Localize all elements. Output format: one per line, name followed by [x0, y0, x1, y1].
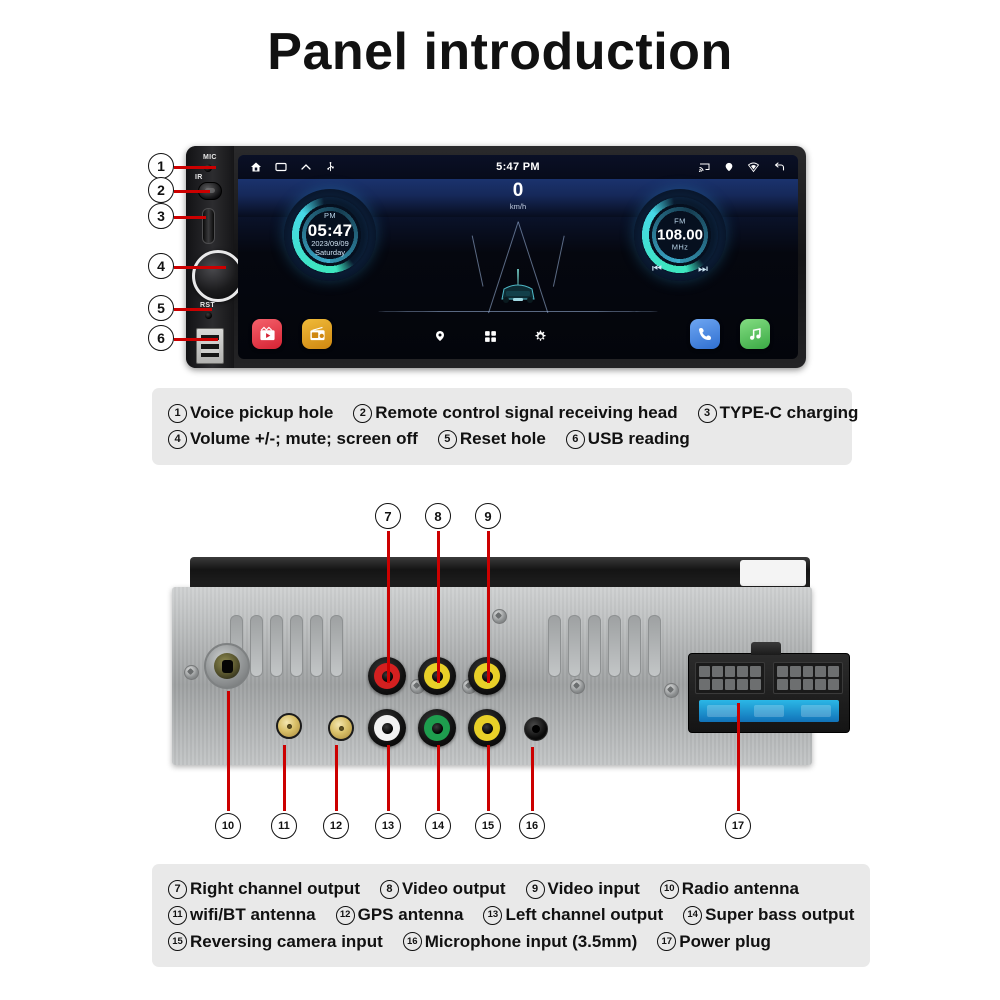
callout-1: 1 — [148, 153, 174, 179]
legend-item-1: 1 Voice pickup hole — [168, 400, 333, 426]
callout-9: 9 — [475, 503, 501, 529]
rca-pin — [432, 723, 443, 734]
legend-text: Left channel output — [505, 902, 663, 928]
callout-10: 10 — [215, 813, 241, 839]
legend-num: 6 — [566, 430, 585, 449]
vent-slot — [290, 615, 303, 677]
vent-slot — [608, 615, 621, 677]
legend-num: 5 — [438, 430, 457, 449]
legend-item-5: 5 Reset hole — [438, 426, 546, 452]
radio-unit: MHz — [651, 244, 709, 253]
legend-item-8: 8 Video output — [380, 876, 506, 902]
leader-line-11 — [283, 745, 286, 811]
legend-item-4: 4 Volume +/-; mute; screen off — [168, 426, 418, 452]
legend-text: Video output — [402, 876, 506, 902]
usb-port[interactable] — [196, 328, 224, 364]
radio-band: FM — [651, 218, 709, 227]
recents-icon[interactable] — [275, 161, 287, 173]
callout-13: 13 — [375, 813, 401, 839]
callout-6: 6 — [148, 325, 174, 351]
video-app-icon[interactable] — [252, 319, 282, 349]
ir-label: IR — [195, 174, 203, 181]
home-icon[interactable] — [250, 161, 262, 173]
type-c-port[interactable] — [202, 208, 215, 244]
power-pin-block-right — [773, 662, 843, 694]
legend-text: TYPE-C charging — [720, 400, 859, 426]
clock-time: 05:47 — [301, 221, 359, 241]
callout-7: 7 — [375, 503, 401, 529]
radio-prev-button[interactable]: ⏮ — [652, 263, 662, 276]
cast-icon[interactable] — [698, 161, 711, 173]
rca-pin — [482, 723, 493, 734]
vent-slot — [548, 615, 561, 677]
legend-text: GPS antenna — [358, 902, 464, 928]
vent-slot — [568, 615, 581, 677]
apps-grid-icon[interactable] — [484, 330, 497, 343]
legend-rear-panel: 7 Right channel output 8 Video output 9 … — [152, 864, 870, 967]
speed-value: 0 — [510, 181, 526, 200]
status-right-icons — [698, 161, 786, 173]
callout-8: 8 — [425, 503, 451, 529]
legend-item-7: 7 Right channel output — [168, 876, 360, 902]
leader-line-5 — [174, 308, 212, 311]
legend-text: Super bass output — [705, 902, 854, 928]
speed-unit: km/h — [510, 202, 526, 211]
wifi-bt-antenna-socket[interactable] — [276, 713, 302, 739]
leader-line-8 — [437, 531, 440, 683]
microphone-input-jack[interactable] — [524, 717, 548, 741]
legend-front-panel: 1 Voice pickup hole 2 Remote control sig… — [152, 388, 852, 465]
leader-line-10 — [227, 691, 230, 811]
settings-gear-icon[interactable] — [534, 330, 547, 343]
radio-antenna-socket[interactable] — [204, 643, 250, 689]
legend-num: 2 — [353, 404, 372, 423]
legend-text: Reset hole — [460, 426, 546, 452]
vent-slot — [330, 615, 343, 677]
legend-item-6: 6 USB reading — [566, 426, 690, 452]
power-plug-latch — [751, 642, 781, 655]
vent-slot — [588, 615, 601, 677]
legend-num: 3 — [698, 404, 717, 423]
callout-2: 2 — [148, 177, 174, 203]
rca-reversing-camera-input[interactable] — [468, 709, 506, 747]
callout-4: 4 — [148, 253, 174, 279]
legend-num: 14 — [683, 906, 702, 925]
legend-row: 11 wifi/BT antenna 12 GPS antenna 13 Lef… — [168, 902, 854, 928]
chevron-up-icon[interactable] — [300, 161, 312, 173]
legend-item-15: 15 Reversing camera input — [168, 929, 383, 955]
radio-app-icon[interactable] — [302, 319, 332, 349]
legend-item-13: 13 Left channel output — [483, 902, 663, 928]
vent-slot — [310, 615, 323, 677]
legend-num: 4 — [168, 430, 187, 449]
touchscreen-display[interactable]: 5:47 PM 0 — [238, 155, 798, 359]
location-icon[interactable] — [724, 161, 734, 173]
leader-line-16 — [531, 747, 534, 811]
chassis-screw — [664, 683, 679, 698]
reset-hole[interactable] — [205, 312, 212, 319]
legend-num: 1 — [168, 404, 187, 423]
legend-row: 4 Volume +/-; mute; screen off 5 Reset h… — [168, 426, 836, 452]
legend-num: 16 — [403, 932, 422, 951]
phone-app-icon[interactable] — [690, 319, 720, 349]
app-dock — [238, 313, 798, 353]
rca-super-bass-output[interactable] — [418, 709, 456, 747]
radio-next-button[interactable]: ⏭ — [698, 263, 708, 276]
leader-line-6 — [174, 338, 218, 341]
leader-line-2 — [174, 190, 210, 193]
gps-antenna-socket[interactable] — [328, 715, 354, 741]
legend-num: 8 — [380, 880, 399, 899]
legend-row: 7 Right channel output 8 Video output 9 … — [168, 876, 854, 902]
callout-11: 11 — [271, 813, 297, 839]
volume-knob[interactable] — [192, 250, 244, 302]
legend-text: Radio antenna — [682, 876, 799, 902]
legend-row: 1 Voice pickup hole 2 Remote control sig… — [168, 400, 836, 426]
music-app-icon[interactable] — [740, 319, 770, 349]
radio-frequency: 108.00 — [651, 226, 709, 243]
callout-15: 15 — [475, 813, 501, 839]
leader-line-12 — [335, 745, 338, 811]
legend-num: 11 — [168, 906, 187, 925]
leader-line-17 — [737, 703, 740, 811]
vent-slot — [628, 615, 641, 677]
chassis-screw — [184, 665, 199, 680]
legend-row: 15 Reversing camera input 16 Microphone … — [168, 929, 854, 955]
legend-num: 15 — [168, 932, 187, 951]
chassis-screw — [492, 609, 507, 624]
leader-line-4 — [174, 266, 226, 269]
legend-item-14: 14 Super bass output — [683, 902, 854, 928]
clock-readout: PM 05:47 2023/09/09 Saturday — [301, 212, 359, 258]
leader-line-13 — [387, 745, 390, 811]
page-title: Panel introduction — [0, 22, 1000, 82]
leader-line-1 — [174, 166, 216, 169]
front-panel-view: 1 2 3 4 5 6 MIC IR RST — [0, 140, 1000, 390]
legend-num: 17 — [657, 932, 676, 951]
left-side-port-column: MIC IR RST — [186, 146, 234, 368]
mic-label: MIC — [203, 154, 217, 161]
leader-line-15 — [487, 745, 490, 811]
wifi-icon[interactable] — [747, 161, 760, 173]
mounting-bracket — [190, 557, 810, 589]
rca-band — [374, 715, 400, 741]
legend-num: 13 — [483, 906, 502, 925]
legend-item-3: 3 TYPE-C charging — [698, 400, 859, 426]
legend-item-17: 17 Power plug — [657, 929, 771, 955]
car-icon — [494, 267, 542, 305]
clock-weekday: Saturday — [301, 249, 359, 258]
legend-text: wifi/BT antenna — [190, 902, 316, 928]
legend-text: Video input — [548, 876, 640, 902]
navigation-icon[interactable] — [434, 329, 446, 343]
vent-slot — [250, 615, 263, 677]
status-left-icons — [250, 161, 336, 173]
callout-12: 12 — [323, 813, 349, 839]
legend-text: Voice pickup hole — [190, 400, 333, 426]
vent-slot — [648, 615, 661, 677]
rca-band — [424, 715, 450, 741]
power-pin-block-left — [695, 662, 765, 694]
legend-text: Volume +/-; mute; screen off — [190, 426, 418, 452]
legend-text: Power plug — [679, 929, 771, 955]
legend-item-11: 11 wifi/BT antenna — [168, 902, 316, 928]
legend-num: 9 — [526, 880, 545, 899]
leader-line-3 — [174, 216, 206, 219]
rca-band — [474, 715, 500, 741]
legend-item-16: 16 Microphone input (3.5mm) — [403, 929, 638, 955]
legend-text: Remote control signal receiving head — [375, 400, 677, 426]
rear-panel-view: 7 8 9 — [0, 495, 1000, 855]
vent-slot — [270, 615, 283, 677]
radio-readout: FM 108.00 MHz — [651, 218, 709, 253]
back-icon[interactable] — [773, 161, 786, 173]
speed-widget: 0 km/h — [510, 181, 526, 211]
clock-widget[interactable]: PM 05:47 2023/09/09 Saturday — [284, 189, 376, 281]
rear-chassis — [172, 587, 812, 765]
clock-meridiem: PM — [301, 212, 359, 221]
legend-item-9: 9 Video input — [526, 876, 640, 902]
legend-text: Reversing camera input — [190, 929, 383, 955]
power-plug-connector[interactable] — [688, 653, 850, 733]
legend-item-2: 2 Remote control signal receiving head — [353, 400, 677, 426]
callout-16: 16 — [519, 813, 545, 839]
status-bar: 5:47 PM — [238, 155, 798, 179]
legend-text: USB reading — [588, 426, 690, 452]
callout-17: 17 — [725, 813, 751, 839]
callout-5: 5 — [148, 295, 174, 321]
legend-item-12: 12 GPS antenna — [336, 902, 464, 928]
din-center — [214, 653, 240, 679]
rca-left-channel-output[interactable] — [368, 709, 406, 747]
fuse-block — [699, 700, 839, 722]
leader-line-9 — [487, 531, 490, 683]
legend-num: 10 — [660, 880, 679, 899]
rca-pin — [382, 723, 393, 734]
legend-text: Right channel output — [190, 876, 360, 902]
legend-num: 7 — [168, 880, 187, 899]
legend-item-10: 10 Radio antenna — [660, 876, 799, 902]
radio-widget[interactable]: FM 108.00 MHz ⏮ ⏭ — [634, 189, 726, 281]
callout-14: 14 — [425, 813, 451, 839]
chassis-screw — [570, 679, 585, 694]
legend-text: Microphone input (3.5mm) — [425, 929, 638, 955]
legend-num: 12 — [336, 906, 355, 925]
callout-3: 3 — [148, 203, 174, 229]
usb-icon — [325, 161, 336, 173]
leader-line-14 — [437, 745, 440, 811]
head-unit-front: MIC IR RST — [186, 146, 806, 368]
leader-line-7 — [387, 531, 390, 683]
